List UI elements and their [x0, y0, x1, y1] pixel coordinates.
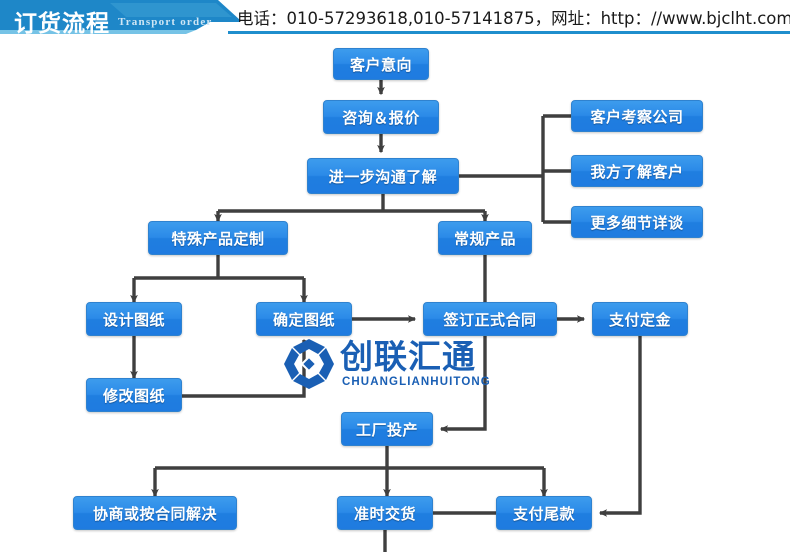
- flow-node-pay-balance[interactable]: 支付尾款: [496, 496, 592, 530]
- flow-node-ontime-delivery[interactable]: 准时交货: [337, 496, 433, 530]
- connector-contract-to-factory: [441, 336, 485, 429]
- header-contact-info: 电话：010-57293618,010-57141875，网址：http：//w…: [237, 5, 790, 29]
- connector-deposit-to-balance: [600, 336, 640, 513]
- connector-revise-to-confirm: [182, 340, 304, 396]
- flow-node-revise-drawing[interactable]: 修改图纸: [86, 378, 182, 412]
- header-divider-rule: [228, 31, 790, 34]
- page-subtitle-english: Transport order: [118, 16, 212, 28]
- flow-node-consult-quote[interactable]: 咨询＆报价: [323, 100, 439, 134]
- flow-node-customer-visit[interactable]: 客户考察公司: [571, 100, 703, 132]
- flow-node-we-understand[interactable]: 我方了解客户: [571, 155, 703, 187]
- flow-node-further-communicate[interactable]: 进一步沟通了解: [307, 158, 459, 194]
- order-process-flowchart: 客户意向咨询＆报价进一步沟通了解客户考察公司我方了解客户更多细节详谈特殊产品定制…: [0, 40, 790, 552]
- flow-node-confirm-drawing[interactable]: 确定图纸: [256, 302, 352, 336]
- flow-node-custom-product[interactable]: 特殊产品定制: [148, 221, 288, 255]
- page-header: 订货流程 Transport order 电话：010-57293618,010…: [0, 0, 790, 40]
- flow-node-sign-contract[interactable]: 签订正式合同: [423, 302, 557, 336]
- flow-node-factory-production[interactable]: 工厂投产: [341, 412, 433, 446]
- page-title: 订货流程: [14, 4, 110, 38]
- flow-node-customer-intent[interactable]: 客户意向: [333, 48, 429, 80]
- flow-node-pay-deposit[interactable]: 支付定金: [592, 302, 688, 336]
- flow-node-standard-product[interactable]: 常规产品: [438, 221, 532, 255]
- flow-node-negotiate-resolve[interactable]: 协商或按合同解决: [73, 496, 237, 530]
- flow-node-more-details[interactable]: 更多细节详谈: [571, 206, 703, 238]
- flow-node-design-drawing[interactable]: 设计图纸: [86, 302, 182, 336]
